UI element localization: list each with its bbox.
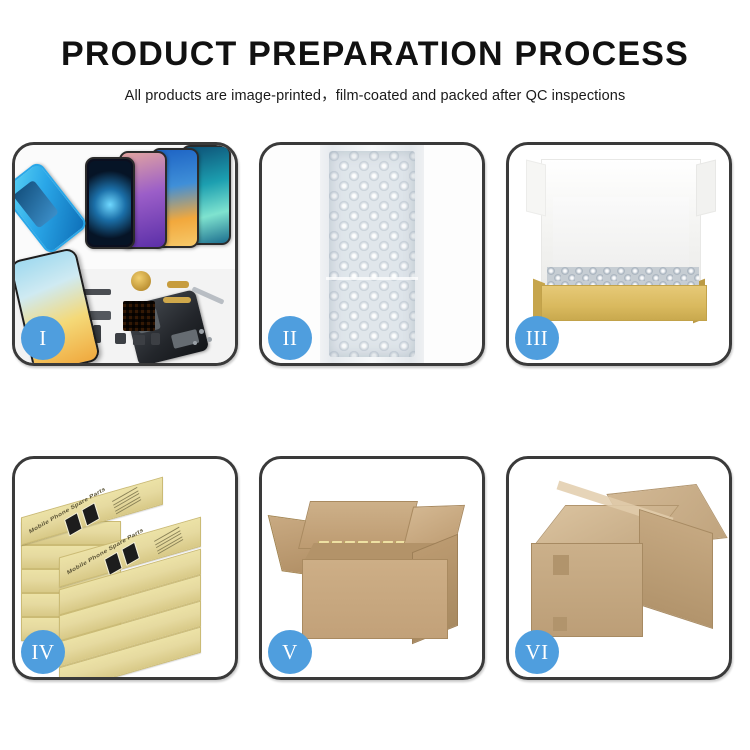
step-badge-6: VI: [515, 630, 559, 674]
part-tweezers: [191, 286, 224, 304]
part-chip-grid: [123, 301, 155, 331]
process-step-panel-1[interactable]: I: [12, 142, 238, 366]
carton-front-face: [302, 559, 448, 639]
page-header: PRODUCT PREPARATION PROCESS All products…: [0, 0, 750, 105]
process-step-panel-2[interactable]: II: [259, 142, 485, 366]
inner-box-interior: [553, 197, 689, 271]
process-step-panel-5[interactable]: V: [259, 456, 485, 680]
process-step-grid: I II III: [12, 142, 738, 680]
part-ic-chip-1: [115, 333, 126, 344]
part-screw-3: [193, 341, 197, 345]
step-badge-5: V: [268, 630, 312, 674]
phone-screen-black-glass: [85, 157, 135, 249]
bubble-wrap-seam: [326, 277, 418, 280]
part-gold-connector-1: [167, 281, 189, 288]
step-badge-2: II: [268, 316, 312, 360]
inner-box-kraft-base: [541, 285, 707, 321]
sealed-carton-tab-lower: [553, 617, 567, 631]
sealed-carton-tab-upper: [553, 555, 569, 575]
retail-box-spec-lines-second: [154, 527, 184, 557]
part-ic-chip-3: [151, 333, 160, 345]
process-step-panel-4[interactable]: Mobile Phone Spare Parts Mobile Phone Sp…: [12, 456, 238, 680]
retail-box-spec-lines-top: [112, 487, 142, 517]
process-step-panel-6[interactable]: VI: [506, 456, 732, 680]
part-gold-connector-2: [163, 297, 191, 303]
step-badge-4: IV: [21, 630, 65, 674]
part-ic-chip-2: [133, 335, 145, 345]
page-title: PRODUCT PREPARATION PROCESS: [0, 36, 750, 73]
process-step-panel-3[interactable]: III: [506, 142, 732, 366]
step-badge-1: I: [21, 316, 65, 360]
sealed-carton-front-face: [531, 543, 643, 637]
part-screw-2: [207, 337, 212, 342]
page-subtitle: All products are image-printed，film-coat…: [0, 84, 750, 105]
bubble-wrap-bubbles: [329, 151, 415, 357]
step-badge-3: III: [515, 316, 559, 360]
part-screw-1: [199, 329, 204, 334]
part-coil: [131, 271, 151, 291]
